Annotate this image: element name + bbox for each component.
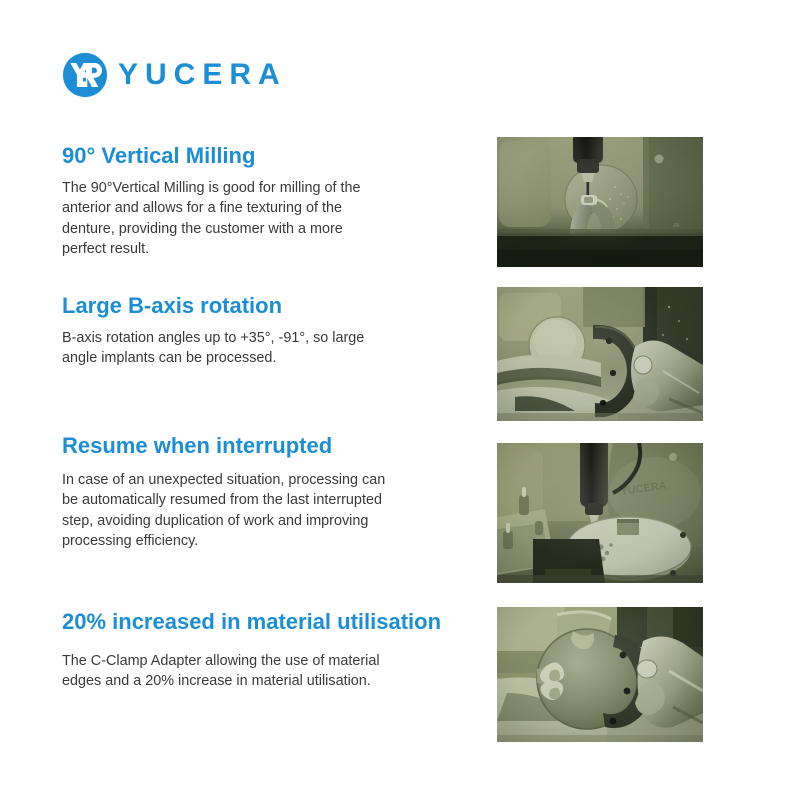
machine-photo-b-axis-rotation xyxy=(497,287,703,421)
feature-text-block: Resume when interrupted In case of an un… xyxy=(62,434,492,552)
feature-body: The C-Clamp Adapter allowing the use of … xyxy=(62,651,382,692)
feature-title: 90° Vertical Milling xyxy=(62,144,492,169)
feature-body: B-axis rotation angles up to +35°, -91°,… xyxy=(62,328,392,369)
page-root: YUCERA 90° Vertical Milling The 90°Verti… xyxy=(0,0,800,800)
feature-title: 20% increased in material utilisation xyxy=(62,610,492,635)
feature-title: Resume when interrupted xyxy=(62,434,492,459)
feature-title: Large B-axis rotation xyxy=(62,294,492,319)
feature-body: The 90°Vertical Milling is good for mill… xyxy=(62,178,382,260)
machine-photo-c-clamp-adapter xyxy=(497,607,703,742)
feature-text-block: 20% increased in material utilisation Th… xyxy=(62,610,492,692)
feature-text-block: 90° Vertical Milling The 90°Vertical Mil… xyxy=(62,144,492,260)
svg-text:JR: JR xyxy=(673,223,680,229)
feature-list: 90° Vertical Milling The 90°Vertical Mil… xyxy=(0,0,800,800)
machine-photo-vertical-milling: JR xyxy=(497,137,703,267)
machine-photo-resume-interrupted: YUCERA xyxy=(497,443,703,583)
feature-text-block: Large B-axis rotation B-axis rotation an… xyxy=(62,294,492,369)
feature-body: In case of an unexpected situation, proc… xyxy=(62,470,387,552)
